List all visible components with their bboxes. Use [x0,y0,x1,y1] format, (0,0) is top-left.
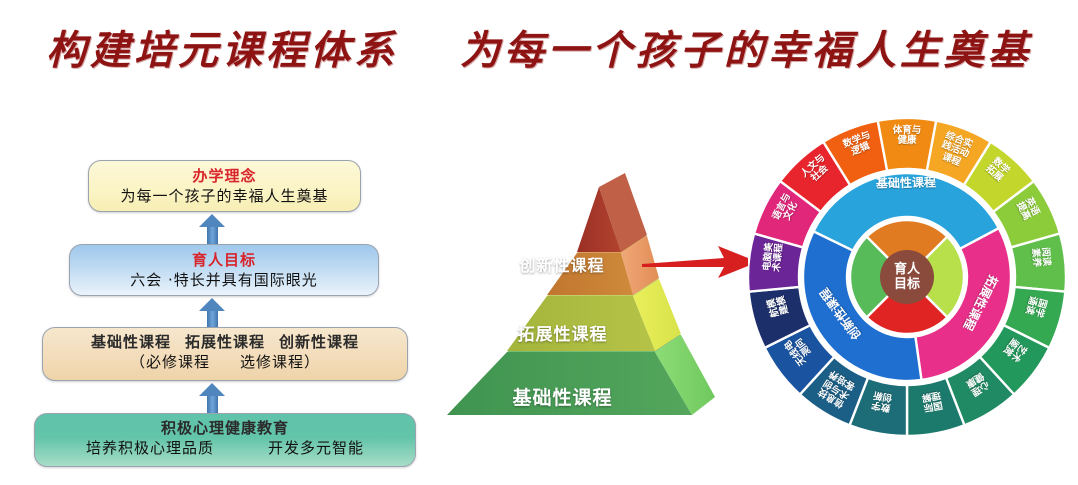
title-part-1: 构建培元课程体系 [46,27,398,74]
page-title: 构建培元课程体系 为每一个孩子的幸福人生奠基 [0,18,1078,76]
box-philosophy-heading: 办学理念 [89,166,360,186]
box-curriculum-body: （必修课程选修课程） [43,352,407,373]
pyramid-label-basic: 基础性课程 [455,383,670,410]
box-psychology-education[interactable]: 积极心理健康教育 培养积极心理品质开发多元智能 [34,413,416,467]
curriculum-basic: 基础性课程 [91,333,171,351]
title-part-2: 为每一个孩子的幸福人生奠基 [460,27,1032,74]
pyramid-label-expansive: 拓展性课程 [475,320,650,345]
elective-courses: 选修课程） [240,353,320,371]
box-philosophy-body: 为每一个孩子的幸福人生奠基 [89,186,360,207]
box-curriculum-types[interactable]: 基础性课程拓展性课程创新性课程 （必修课程选修课程） [42,327,408,381]
box-goal-body: 六会 ·特长并具有国际眼光 [70,270,378,291]
curriculum-pyramid: 创新性课程 拓展性课程 基础性课程 [437,165,727,430]
required-courses: （必修课程 [130,353,210,371]
curriculum-innovate: 创新性课程 [279,333,359,351]
slide-canvas: 构建培元课程体系 为每一个孩子的幸福人生奠基 办学理念 为每一个孩子的幸福人生奠… [0,0,1078,485]
box-psych-body: 培养积极心理品质开发多元智能 [35,438,415,459]
box-goal-heading: 育人目标 [70,250,378,270]
curriculum-wheel: 育人 目标 人文与 社会数学与 逻辑体育与 健康综合实 践活动 课程数学 拓展英… [748,118,1066,436]
wheel-center-label: 育人 目标 [894,262,920,292]
box-education-goal[interactable]: 育人目标 六会 ·特长并具有国际眼光 [69,244,379,296]
box-curriculum-headings: 基础性课程拓展性课程创新性课程 [43,332,407,352]
box-philosophy[interactable]: 办学理念 为每一个孩子的幸福人生奠基 [88,160,361,212]
pyramid-label-innovative: 创新性课程 [492,252,632,276]
curriculum-expand: 拓展性课程 [185,333,265,351]
psych-intelligence: 开发多元智能 [268,439,364,457]
flow-arrow [642,242,762,282]
framework-box-stack: 办学理念 为每一个孩子的幸福人生奠基 育人目标 六会 ·特长并具有国际眼光 基础… [34,160,424,435]
box-psych-heading: 积极心理健康教育 [35,418,415,438]
psych-quality: 培养积极心理品质 [86,439,214,457]
